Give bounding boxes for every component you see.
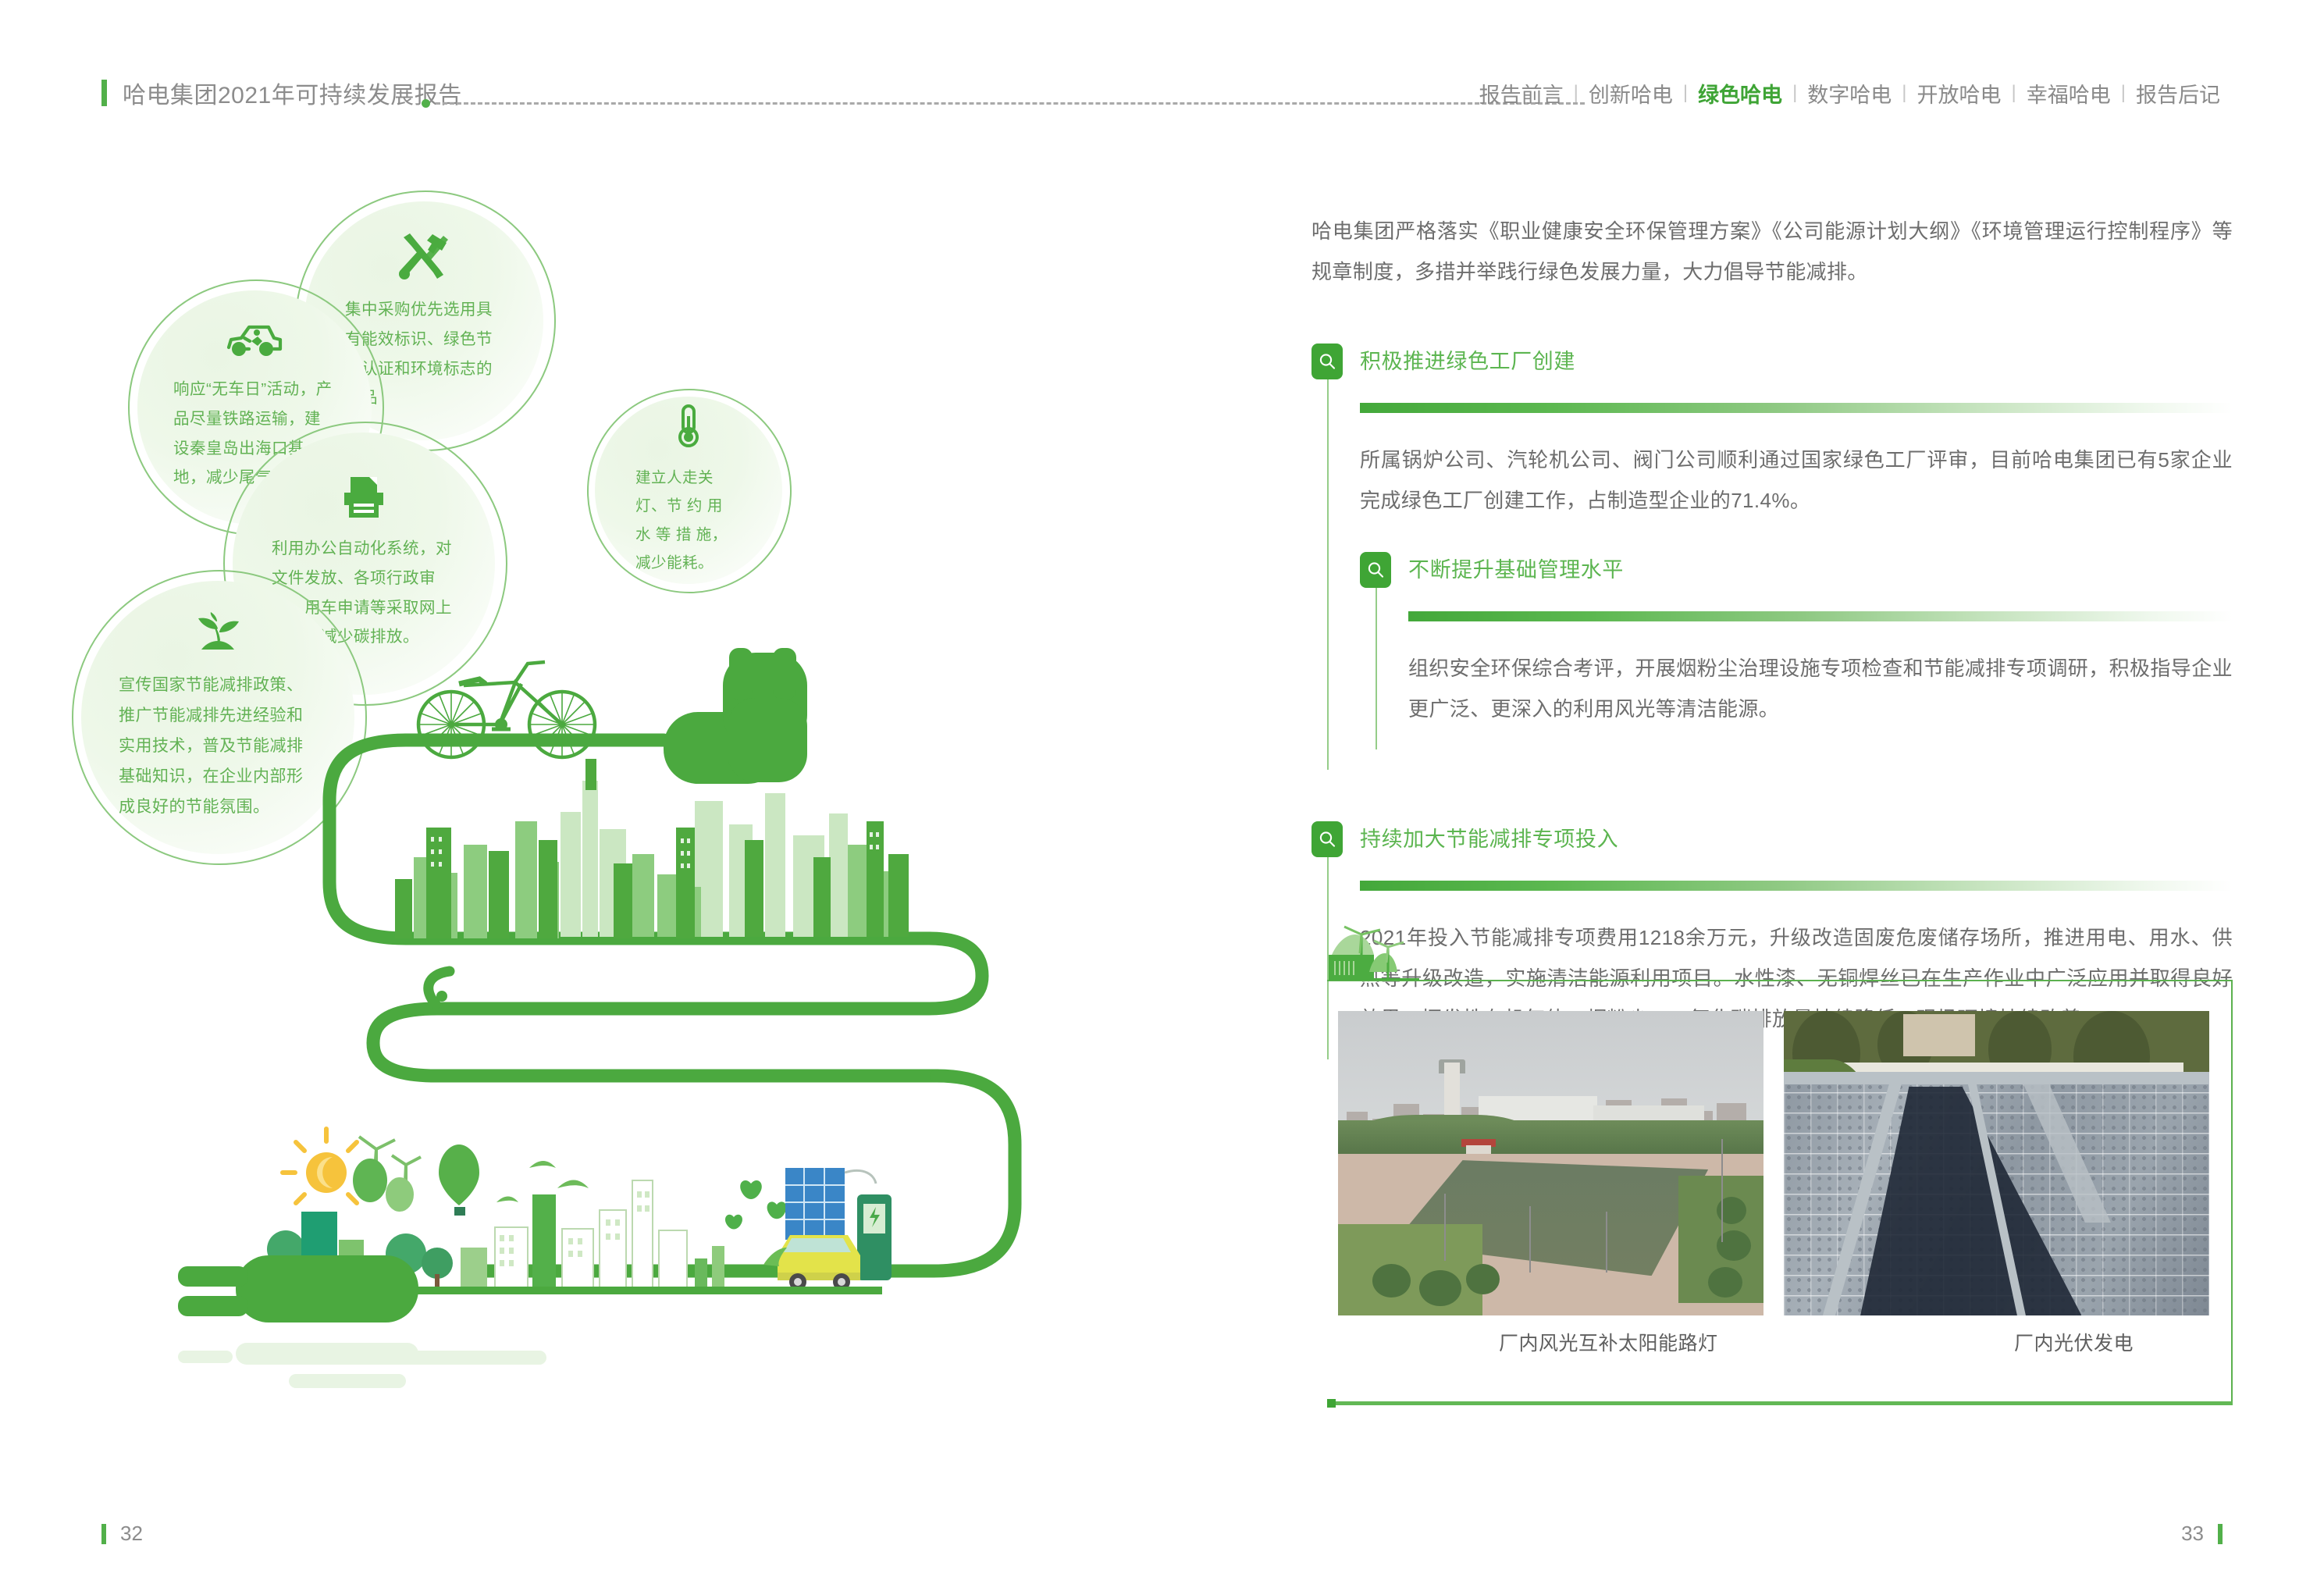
section-body: 组织安全环保综合考评，开展烟粉尘治理设施专项检查和节能减排专项调研，积极指导企业… xyxy=(1376,588,2233,749)
header-dotted-rule xyxy=(422,98,1585,108)
cityscape-illustration xyxy=(395,759,909,938)
section-header: 积极推进绿色工厂创建 xyxy=(1311,344,2233,379)
wind-turbine-hydro-dam-icon xyxy=(1327,924,1421,983)
charging-station-icon xyxy=(857,1194,892,1280)
page-title: 哈电集团2021年可持续发展报告 xyxy=(123,76,462,110)
section-body: 所属锅炉公司、汽轮机公司、阀门公司顺利通过国家绿色工厂评审，目前哈电集团已有5家… xyxy=(1327,379,2233,770)
bubble-label: 建立人走关灯、节 约 用 水 等 措 施，减少能耗。 xyxy=(635,464,742,576)
chapter-nav: 报告前言 | 创新哈电 | 绿色哈电 | 数字哈电 | 开放哈电 | 幸福哈电 … xyxy=(1469,75,2230,111)
section-title: 持续加大节能减排专项投入 xyxy=(1360,821,1618,857)
header-title-group: 哈电集团2021年可持续发展报告 xyxy=(101,75,462,111)
section-paragraph: 所属锅炉公司、汽轮机公司、阀门公司顺利通过国家绿色工厂评审，目前哈电集团已有5家… xyxy=(1360,440,2233,521)
photo-frame-bottom-bar xyxy=(1327,1401,2233,1405)
magnifier-icon xyxy=(1311,344,1343,379)
page-number-right: 33 xyxy=(2181,1522,2223,1546)
intro-paragraph: 哈电集团严格落实《职业健康安全环保管理方案》《公司能源计划大纲》《环境管理运行控… xyxy=(1311,211,2233,292)
nav-item-2-active[interactable]: 绿色哈电 xyxy=(1688,78,1792,109)
nav-item-6[interactable]: 报告后记 xyxy=(2126,78,2230,109)
photo-gallery-card: 厂内风光互补太阳能路灯 厂内光伏发电 xyxy=(1327,980,2233,1405)
nav-item-3[interactable]: 数字哈电 xyxy=(1797,78,1902,109)
section-green-factory: 积极推进绿色工厂创建 所属锅炉公司、汽轮机公司、阀门公司顺利通过国家绿色工厂评审… xyxy=(1311,344,2233,770)
section-title: 积极推进绿色工厂创建 xyxy=(1360,344,1575,379)
photo-solar-street-lamp xyxy=(1338,1011,1763,1315)
printer-icon xyxy=(343,475,385,523)
reflection-shadow xyxy=(178,1343,546,1388)
thermometer-icon xyxy=(675,404,702,453)
dashed-line xyxy=(436,102,1585,105)
gradient-rule xyxy=(1360,881,2233,891)
content-column: 哈电集团严格落实《职业健康安全环保管理方案》《公司能源计划大纲》《环境管理运行控… xyxy=(1311,211,2233,1059)
nav-item-5[interactable]: 幸福哈电 xyxy=(2016,78,2121,109)
page-accent-bar xyxy=(2218,1524,2223,1544)
photo-row xyxy=(1338,1011,2209,1315)
nav-item-1[interactable]: 创新哈电 xyxy=(1578,78,1683,109)
nav-item-0[interactable]: 报告前言 xyxy=(1469,78,1574,109)
power-plug-icon xyxy=(664,648,807,784)
wall-plug-icon xyxy=(178,1255,418,1322)
gradient-rule xyxy=(1408,611,2233,621)
wrench-hammer-icon xyxy=(398,232,450,284)
page-accent-bar xyxy=(101,1524,106,1544)
page-header: 哈电集团2021年可持续发展报告 报告前言 | 创新哈电 | 绿色哈电 | 数字… xyxy=(0,75,2324,122)
section-title: 不断提升基础管理水平 xyxy=(1408,552,1624,588)
page-number: 33 xyxy=(2181,1522,2204,1546)
nav-item-4[interactable]: 开放哈电 xyxy=(1907,78,2012,109)
section-header: 持续加大节能减排专项投入 xyxy=(1311,821,2233,857)
butterflies-icon xyxy=(725,1180,786,1230)
infographic-panel: 集中采购优先选用具有能效标识、绿色节水认证和环境标志的产品 xyxy=(70,180,1148,1444)
green-energy-plug-cable-illustration xyxy=(148,648,1062,1421)
photo-caption-2: 厂内光伏发电 xyxy=(2014,1328,2134,1356)
car-icon xyxy=(226,322,283,364)
dot-marker-icon xyxy=(422,99,430,108)
page-number: 32 xyxy=(120,1522,143,1546)
magnifier-icon xyxy=(1311,821,1343,857)
bubble-content: 建立人走关灯、节 约 用 水 等 措 施，减少能耗。 xyxy=(595,397,782,584)
section-paragraph: 组织安全环保综合考评，开展烟粉尘治理设施专项检查和节能减排专项调研，积极指导企业… xyxy=(1408,648,2233,729)
report-spread: 哈电集团2021年可持续发展报告 报告前言 | 创新哈电 | 绿色哈电 | 数字… xyxy=(0,0,2324,1577)
section-header: 不断提升基础管理水平 xyxy=(1360,552,2233,588)
photo-rooftop-pv xyxy=(1784,1011,2209,1315)
electric-car-icon xyxy=(763,1235,860,1290)
section-management-level: 不断提升基础管理水平 组织安全环保综合考评，开展烟粉尘治理设施专项检查和节能减排… xyxy=(1360,552,2233,749)
gradient-rule xyxy=(1360,403,2233,413)
hot-air-balloon-icon xyxy=(439,1144,479,1216)
photo-caption-1: 厂内风光互补太阳能路灯 xyxy=(1499,1328,1718,1356)
magnifier-icon xyxy=(1360,552,1391,588)
title-accent-bar xyxy=(101,80,107,106)
page-number-left: 32 xyxy=(101,1522,143,1546)
